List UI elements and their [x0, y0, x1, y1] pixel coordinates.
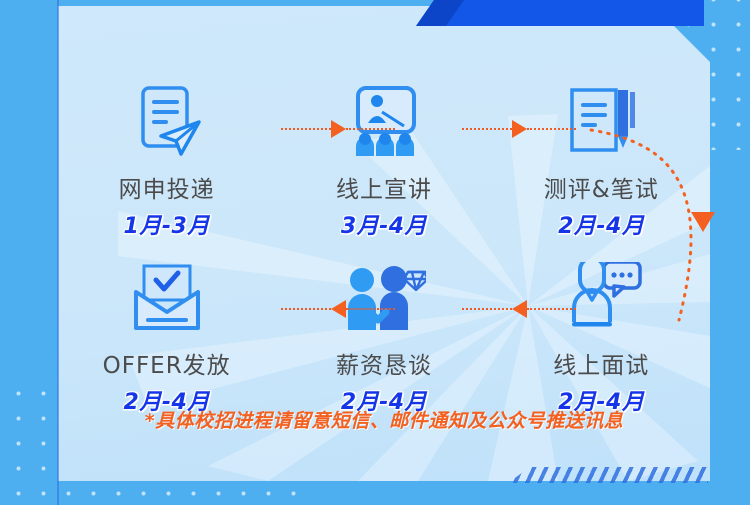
arrow-right-icon	[512, 120, 527, 138]
conn-5-6	[281, 302, 395, 316]
dotted-line	[462, 308, 512, 310]
dotted-line	[346, 308, 396, 310]
step-offer-issued[interactable]: OFFER发放 2月-4月	[58, 256, 275, 416]
conn-2-3	[462, 122, 576, 136]
step-online-application[interactable]: 网申投递 1月-3月	[58, 80, 275, 240]
dotted-line	[281, 308, 331, 310]
dotted-line	[346, 128, 396, 130]
recruitment-timeline-graphic: 网申投递 1月-3月	[0, 0, 750, 505]
step-online-presentation[interactable]: 线上宣讲 3月-4月	[275, 80, 492, 240]
dotted-line	[462, 128, 512, 130]
arrow-down-icon	[691, 212, 715, 232]
presentation-board-icon	[346, 80, 422, 158]
step-label: 薪资恳谈	[336, 346, 432, 380]
footnote-text: *具体校招进程请留意短信、邮件通知及公众号推送讯息	[58, 406, 710, 433]
conn-1-2	[281, 122, 395, 136]
arrow-right-icon	[331, 120, 346, 138]
dotted-line	[527, 128, 577, 130]
dotted-line	[281, 128, 331, 130]
step-label: 线上面试	[553, 346, 649, 380]
envelope-check-icon	[130, 256, 204, 334]
step-salary-negotiation[interactable]: 薪资恳谈 2月-4月	[275, 256, 492, 416]
conn-3-4	[583, 124, 743, 324]
step-date: 1月-3月	[124, 208, 210, 240]
document-send-icon	[131, 80, 203, 158]
handshake-diamond-icon	[342, 256, 426, 334]
step-label: 线上宣讲	[336, 170, 432, 204]
dotted-line	[527, 308, 577, 310]
step-date: 3月-4月	[341, 208, 427, 240]
step-label: 网申投递	[119, 170, 215, 204]
arrow-left-icon	[512, 300, 527, 318]
conn-4-5	[462, 302, 576, 316]
arrow-left-icon	[331, 300, 346, 318]
step-label: OFFER发放	[103, 346, 231, 380]
